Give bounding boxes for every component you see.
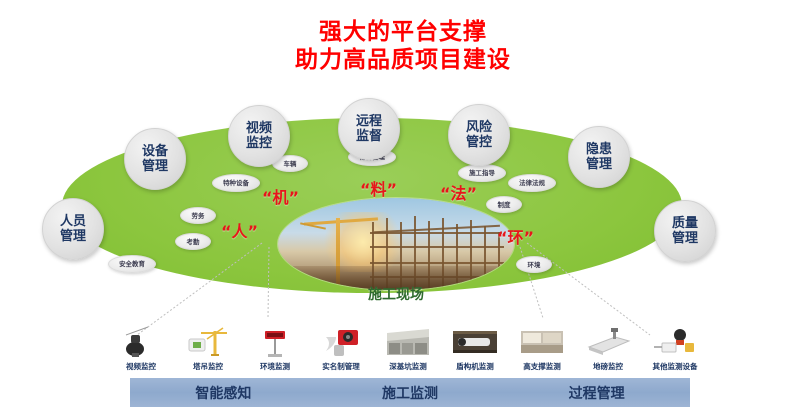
pill-labor-service[interactable]: 劳务 xyxy=(180,207,216,224)
pill-attendance[interactable]: 考勤 xyxy=(175,233,211,250)
node-label: 人员 管理 xyxy=(60,214,86,244)
device-label: 深基坑监测 xyxy=(389,361,427,371)
node-label: 隐患 管理 xyxy=(586,142,612,172)
red-label-huan: “环” xyxy=(497,224,534,248)
pill-label: 特种设备 xyxy=(223,178,249,187)
title-line-1: 强大的平台支撑 xyxy=(0,18,806,46)
pill-label: 劳务 xyxy=(192,211,205,220)
env-sensor-icon xyxy=(252,325,298,359)
node-label: 质量 管理 xyxy=(672,216,698,246)
device-label: 高支撑监测 xyxy=(523,361,561,371)
node-label: 视频 监控 xyxy=(246,121,272,151)
node-hazard-management[interactable]: 隐患 管理 xyxy=(568,126,630,188)
bar-segment-construction-monitor[interactable]: 施工监测 xyxy=(317,383,504,403)
node-risk-control[interactable]: 风险 管控 xyxy=(448,104,510,166)
pill-label: 车辆 xyxy=(284,159,297,168)
device-other-devices[interactable]: 其他监测设备 xyxy=(642,325,708,372)
ptz-camera-icon xyxy=(118,325,164,359)
node-remote-supervision[interactable]: 远程 监督 xyxy=(338,98,400,160)
pill-label: 环境 xyxy=(528,260,541,269)
node-personnel-management[interactable]: 人员 管理 xyxy=(42,198,104,260)
red-label-liao: “料” xyxy=(360,176,397,200)
tower-crane-icon xyxy=(185,325,231,359)
device-label: 盾构机监测 xyxy=(456,361,494,371)
device-high-support-mon[interactable]: 高支撑监测 xyxy=(509,325,575,372)
node-equipment-management[interactable]: 设备 管理 xyxy=(124,128,186,190)
deep-pit-icon xyxy=(385,325,431,359)
other-device-icon xyxy=(652,325,698,359)
bar-segment-smart-sensing[interactable]: 智能感知 xyxy=(130,383,317,403)
pill-label: 施工指导 xyxy=(469,168,495,177)
node-label: 设备 管理 xyxy=(142,144,168,174)
device-label: 环境监测 xyxy=(259,361,289,371)
diagram-canvas: 强大的平台支撑 助力高品质项目建设 xyxy=(0,0,806,407)
node-label: 远程 监督 xyxy=(356,114,382,144)
device-video-monitoring[interactable]: 视频监控 xyxy=(108,325,174,372)
pill-label: 法律法规 xyxy=(519,178,545,187)
page-title: 强大的平台支撑 助力高品质项目建设 xyxy=(0,18,806,74)
device-label: 地磅监控 xyxy=(593,361,623,371)
device-environment-mon[interactable]: 环境监测 xyxy=(242,325,308,372)
device-real-name-mgmt[interactable]: 实名制管理 xyxy=(308,325,374,372)
pill-environment[interactable]: 环境 xyxy=(516,256,552,273)
device-label: 塔吊监控 xyxy=(193,361,223,371)
node-video-surveillance[interactable]: 视频 监控 xyxy=(228,105,290,167)
pill-label: 安全教育 xyxy=(119,259,145,268)
title-line-2: 助力高品质项目建设 xyxy=(0,46,806,74)
node-label: 风险 管控 xyxy=(466,120,492,150)
node-quality-management[interactable]: 质量 管理 xyxy=(654,200,716,262)
device-icon-row: 视频监控塔吊监控环境监测实名制管理深基坑监测盾构机监测高支撑监测地磅监控其他监测… xyxy=(108,318,708,372)
device-weighbridge[interactable]: 地磅监控 xyxy=(575,325,641,372)
device-label: 实名制管理 xyxy=(322,361,360,371)
shield-machine-icon xyxy=(452,325,498,359)
weighbridge-icon xyxy=(585,325,631,359)
red-label-ji: “机” xyxy=(262,184,299,208)
face-terminal-icon xyxy=(318,325,364,359)
device-deep-pit-mon[interactable]: 深基坑监测 xyxy=(375,325,441,372)
pill-safety-education[interactable]: 安全教育 xyxy=(108,255,156,273)
device-label: 其他监测设备 xyxy=(652,361,697,371)
pill-special-equipment[interactable]: 特种设备 xyxy=(212,174,260,192)
high-support-icon xyxy=(519,325,565,359)
construction-site-photo xyxy=(278,198,514,290)
device-tower-crane[interactable]: 塔吊监控 xyxy=(175,325,241,372)
category-bar: 智能感知施工监测过程管理 xyxy=(130,378,690,407)
device-label: 视频监控 xyxy=(126,361,156,371)
pill-label: 考勤 xyxy=(187,237,200,246)
pill-label: 制度 xyxy=(498,200,511,209)
bar-segment-process-management[interactable]: 过程管理 xyxy=(503,383,690,403)
device-shield-machine[interactable]: 盾构机监测 xyxy=(442,325,508,372)
red-label-ren: “人” xyxy=(221,218,258,242)
pill-laws-regulations[interactable]: 法律法规 xyxy=(508,174,556,192)
site-label: 施工现场 xyxy=(278,284,514,304)
red-label-fa: “法” xyxy=(440,180,477,204)
pill-system-rules[interactable]: 制度 xyxy=(486,196,522,213)
